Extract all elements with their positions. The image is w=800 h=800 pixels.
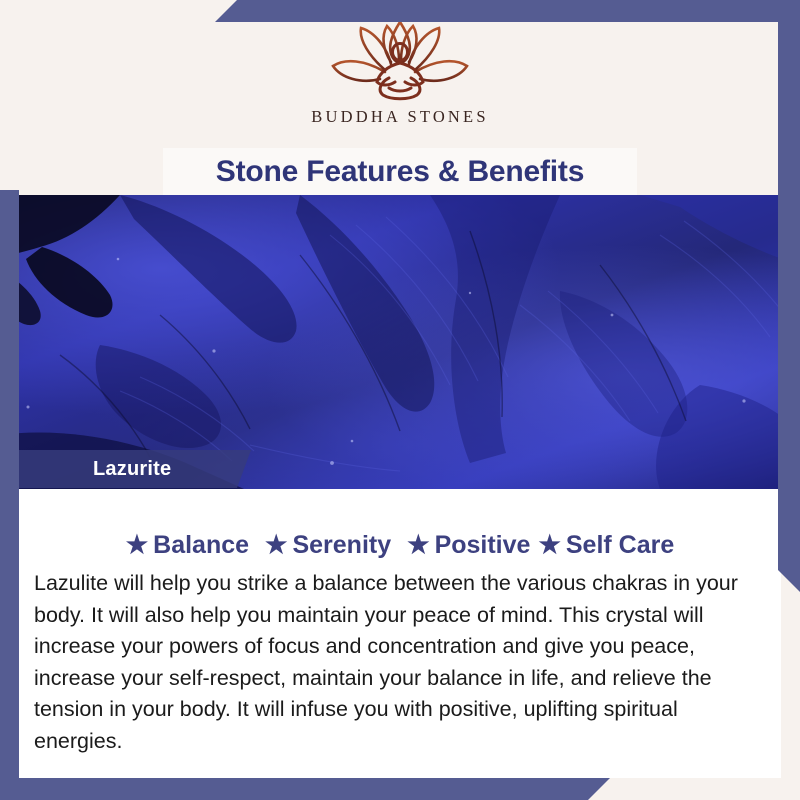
- brand-logo: BUDDHA STONES: [311, 16, 488, 127]
- star-icon: ★: [265, 533, 287, 558]
- lotus-meditation-icon: [325, 16, 475, 102]
- frame-bottom-accent: [0, 778, 610, 800]
- benefit-item-self-care: ★ Self Care: [538, 531, 674, 560]
- star-icon: ★: [126, 533, 148, 558]
- benefit-item-balance: ★ Balance: [126, 531, 249, 560]
- benefits-row: ★ Balance ★ Serenity ★ Positive ★ Self C…: [19, 531, 781, 560]
- title-banner: Stone Features & Benefits: [163, 148, 637, 196]
- stone-info-card: BUDDHA STONES Stone Features & Benefits: [0, 0, 800, 800]
- benefit-label: Self Care: [566, 531, 674, 560]
- benefit-item-serenity: ★ Serenity: [265, 531, 391, 560]
- star-icon: ★: [538, 533, 560, 558]
- lazurite-stone-photo: [0, 195, 800, 489]
- star-icon: ★: [407, 533, 429, 558]
- stone-name: Lazurite: [93, 458, 171, 481]
- benefit-label: Balance: [153, 531, 249, 560]
- page-title: Stone Features & Benefits: [216, 155, 584, 189]
- stone-name-tag: Lazurite: [19, 450, 251, 488]
- stone-description: Lazulite will help you strike a balance …: [34, 568, 758, 757]
- benefit-item-positive: ★ Positive: [407, 531, 530, 560]
- brand-name: BUDDHA STONES: [311, 107, 488, 127]
- benefit-label: Serenity: [292, 531, 391, 560]
- benefit-label: Positive: [435, 531, 531, 560]
